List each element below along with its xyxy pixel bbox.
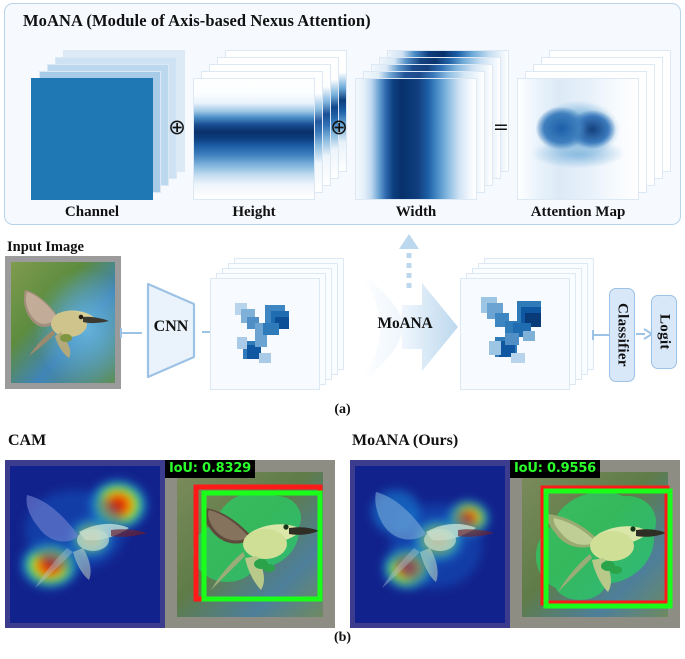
moana-panel-title: MoANA (Module of Axis-based Nexus Attent… [23,11,371,31]
logit-block[interactable]: Logit [651,295,677,369]
channel-card-front [31,78,153,200]
figure-caption-b: (b) [0,630,685,646]
logit-label: Logit [656,314,673,350]
cam-method-label: CAM [8,432,46,450]
cam-bbox-image: IoU: 0.8329 [165,460,335,628]
channel-label: Channel [31,204,153,221]
moana-heatmap [350,460,510,628]
cam-heatmap [5,460,165,628]
attention-card-front [517,78,639,200]
cam-result-panel: IoU: 0.8329 [5,460,335,628]
plus-operator-1: ⊕ [166,116,188,138]
moana-method-label: MoANA (Ours) [352,432,458,450]
feature-map-stack-1 [210,258,350,388]
height-card-front [193,78,315,200]
moana-arrow-label: MoANA [362,315,448,333]
equals-operator: = [490,116,512,138]
connector-input-to-cnn [120,326,144,340]
cnn-label: CNN [142,318,200,336]
classifier-label: Classifier [614,303,631,367]
dashed-up-arrow [398,232,420,290]
moana-bbox-image: IoU: 0.9556 [510,460,680,628]
plus-operator-2: ⊕ [328,116,350,138]
feature-map-stack-2 [460,258,600,388]
attention-map-label: Attention Map [517,204,639,221]
moana-result-panel: IoU: 0.9556 [350,460,680,628]
feature1-card-front [210,278,320,390]
width-label: Width [355,204,477,221]
input-image-photo [11,262,115,383]
attention-map-stack: Attention Map [517,50,677,202]
figure-caption-a: (a) [0,402,685,418]
cam-iou-badge: IoU: 0.8329 [165,460,255,478]
input-image-frame [5,256,121,389]
input-image-label: Input Image [7,239,84,256]
moana-module-panel: MoANA (Module of Axis-based Nexus Attent… [4,3,681,225]
feature1-heat [211,279,320,390]
feature2-heat [461,279,570,390]
height-label: Height [193,204,315,221]
width-card-front [355,78,477,200]
moana-iou-badge: IoU: 0.9556 [510,460,600,478]
classifier-block[interactable]: Classifier [609,288,635,382]
feature2-card-front [460,278,570,390]
